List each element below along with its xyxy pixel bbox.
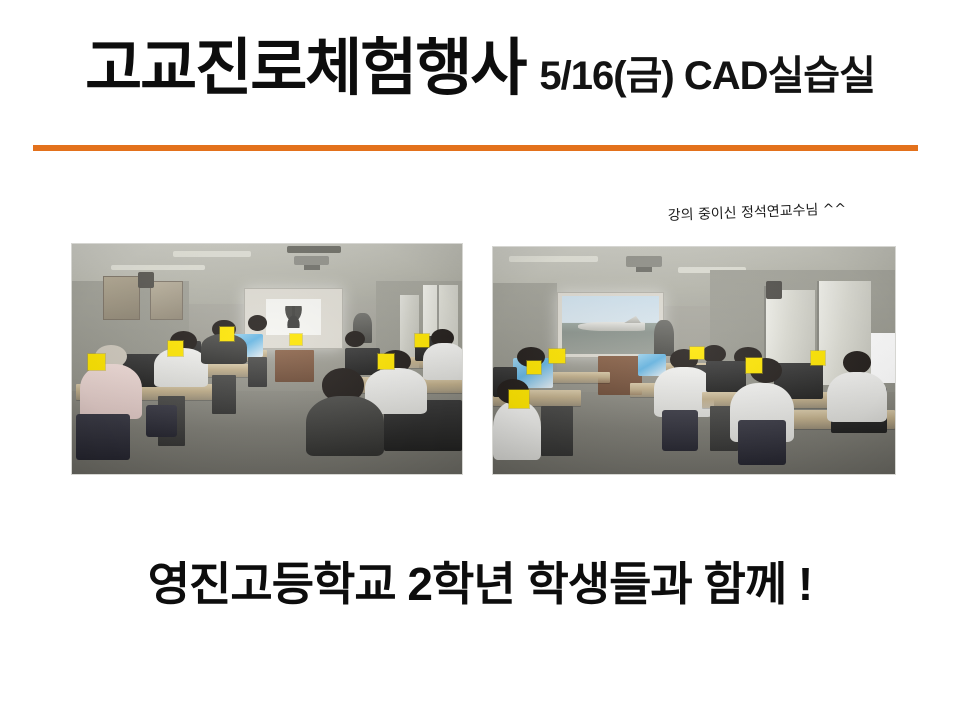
privacy-sticker: [220, 327, 234, 341]
slide-title-row: 고교진로체험행사 5/16(금) CAD실습실: [0, 38, 960, 124]
slide-caption: 영진고등학교 2학년 학생들과 함께 !: [0, 548, 960, 614]
classroom-photo-left: [72, 244, 462, 474]
cad-object-shape: [281, 306, 306, 328]
privacy-sticker: [290, 334, 302, 346]
pc-tower: [212, 375, 235, 414]
student: [306, 396, 384, 456]
privacy-sticker: [746, 358, 762, 373]
projected-cad-image: [266, 299, 321, 335]
instructor: [654, 320, 674, 356]
privacy-sticker: [527, 361, 541, 375]
wall-poster: [103, 276, 140, 319]
wall-poster: [150, 281, 183, 320]
student: [423, 343, 462, 380]
student: [80, 364, 142, 419]
desk: [545, 372, 609, 383]
pc-tower: [541, 406, 573, 456]
chair: [146, 405, 177, 437]
page-title: 고교진로체험행사: [85, 38, 525, 100]
handwritten-annotation: 강의 중이신 정석연교수님 ^^: [667, 196, 900, 235]
privacy-sticker: [415, 334, 429, 348]
photo-right-scene: [493, 247, 895, 474]
ceiling-light: [173, 251, 251, 257]
ceiling-light: [287, 246, 342, 253]
aircraft-shape: [578, 322, 645, 331]
projector-icon: [626, 256, 662, 267]
presentation-slide: 고교진로체험행사 5/16(금) CAD실습실 강의 중이신 정석연교수님 ^^: [0, 0, 960, 720]
student: [827, 372, 887, 422]
projection-screen: [557, 292, 664, 358]
pc-tower: [248, 357, 268, 387]
photo-left-scene: [72, 244, 462, 474]
ceiling-light: [509, 256, 597, 261]
privacy-sticker: [168, 341, 184, 356]
chair: [738, 420, 786, 465]
projected-airport-image: [562, 296, 658, 354]
student: [493, 401, 541, 460]
projector-icon: [294, 256, 329, 265]
privacy-sticker: [811, 351, 825, 365]
privacy-sticker: [549, 349, 565, 363]
chair: [662, 410, 698, 451]
chair: [76, 414, 131, 460]
ceiling-light: [111, 265, 205, 270]
classroom-photo-right: [493, 247, 895, 474]
speaker-icon: [138, 272, 154, 288]
speaker-icon: [766, 281, 782, 299]
privacy-sticker: [378, 354, 394, 369]
podium: [275, 350, 314, 382]
privacy-sticker: [88, 354, 106, 370]
student-head: [345, 331, 365, 347]
privacy-sticker: [690, 347, 704, 359]
student-head: [843, 351, 871, 374]
title-divider-rule: [33, 145, 918, 151]
page-subtitle: 5/16(금) CAD실습실: [539, 56, 874, 96]
privacy-sticker: [509, 390, 529, 408]
